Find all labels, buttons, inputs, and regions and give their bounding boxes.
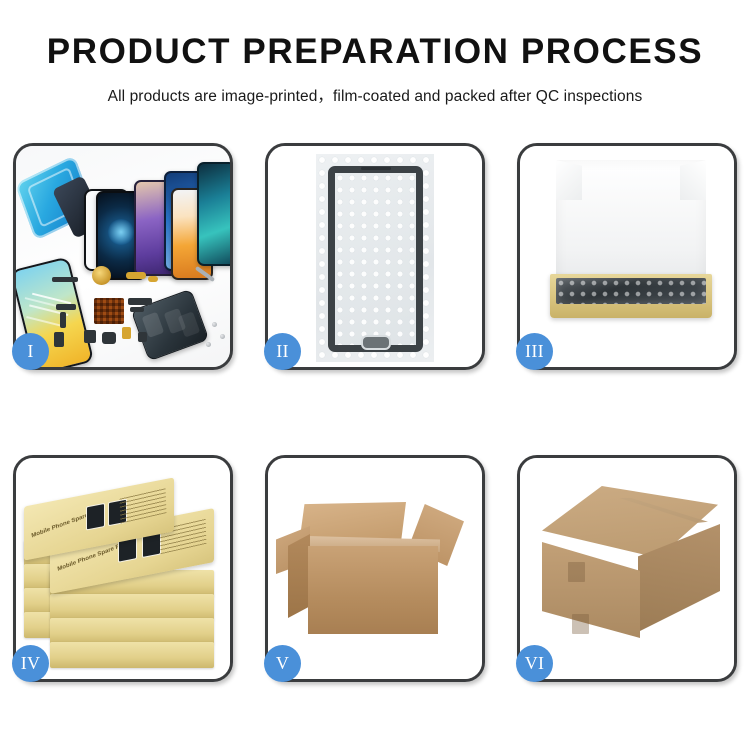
screw-icon (206, 342, 211, 347)
step-image-6 (520, 458, 734, 679)
box-screen-print-icon (86, 503, 105, 531)
step-panel-5: V (265, 455, 485, 682)
earpiece-part-icon (52, 277, 78, 282)
foam-flap-right-icon (680, 160, 706, 200)
page-title: PRODUCT PREPARATION PROCESS (0, 34, 750, 69)
step-image-2 (268, 146, 482, 367)
step-panel-1: I (13, 143, 233, 370)
page-subtitle: All products are image-printed，film-coat… (0, 84, 750, 106)
step-badge-2: II (264, 333, 301, 370)
camera-module-icon (102, 332, 116, 344)
step-panel-6: VI (517, 455, 737, 682)
step-image-5 (268, 458, 482, 679)
step-panel-4: Mobile Phone Spare Parts Mobile Phone Sp… (13, 455, 233, 682)
sensor-part-icon (130, 307, 144, 312)
vibrator-motor-icon (122, 327, 131, 339)
flex-cable-gold-icon (126, 272, 146, 279)
sim-tray-icon (54, 332, 64, 347)
stacked-box (50, 642, 214, 668)
chip-grid-icon (94, 298, 124, 324)
step-badge-6: VI (516, 645, 553, 682)
carton-handle-tab-icon (572, 614, 589, 634)
step-panel-3: III (517, 143, 737, 370)
small-part-icon (138, 332, 147, 342)
product-preparation-infographic: PRODUCT PREPARATION PROCESS All products… (0, 0, 750, 750)
step-panel-2: II (265, 143, 485, 370)
steps-grid: I II III (13, 143, 737, 682)
speaker-module-icon (92, 266, 111, 285)
header: PRODUCT PREPARATION PROCESS All products… (0, 0, 750, 106)
step-badge-1: I (12, 333, 49, 370)
step-image-4: Mobile Phone Spare Parts Mobile Phone Sp… (16, 458, 230, 679)
step-badge-3: III (516, 333, 553, 370)
box-spec-lines-icon (120, 487, 167, 523)
phone-teal-icon (197, 162, 230, 266)
step-badge-4: IV (12, 645, 49, 682)
sealed-carton-front-icon (542, 542, 640, 638)
connector-gold-icon (148, 276, 158, 282)
screw-icon (220, 334, 225, 339)
carton-side-icon (288, 534, 310, 618)
stacked-box (50, 618, 214, 644)
step-badge-5: V (264, 645, 301, 682)
foam-flap-left-icon (556, 160, 582, 200)
bracket-icon (84, 330, 96, 343)
step-image-1 (16, 146, 230, 367)
step-image-3 (520, 146, 734, 367)
carton-body-icon (308, 546, 438, 634)
sensor-flex-icon (128, 298, 152, 305)
flex-cable-icon (56, 304, 76, 310)
flex-tail-icon (60, 312, 66, 328)
box-stack: Mobile Phone Spare Parts Mobile Phone Sp… (24, 478, 228, 668)
wrapped-screen-icon (328, 166, 423, 352)
screw-icon (212, 322, 217, 327)
stacked-box (50, 594, 214, 620)
carton-handle-tab-icon (568, 562, 585, 582)
kraft-inner-box-icon (550, 274, 712, 318)
